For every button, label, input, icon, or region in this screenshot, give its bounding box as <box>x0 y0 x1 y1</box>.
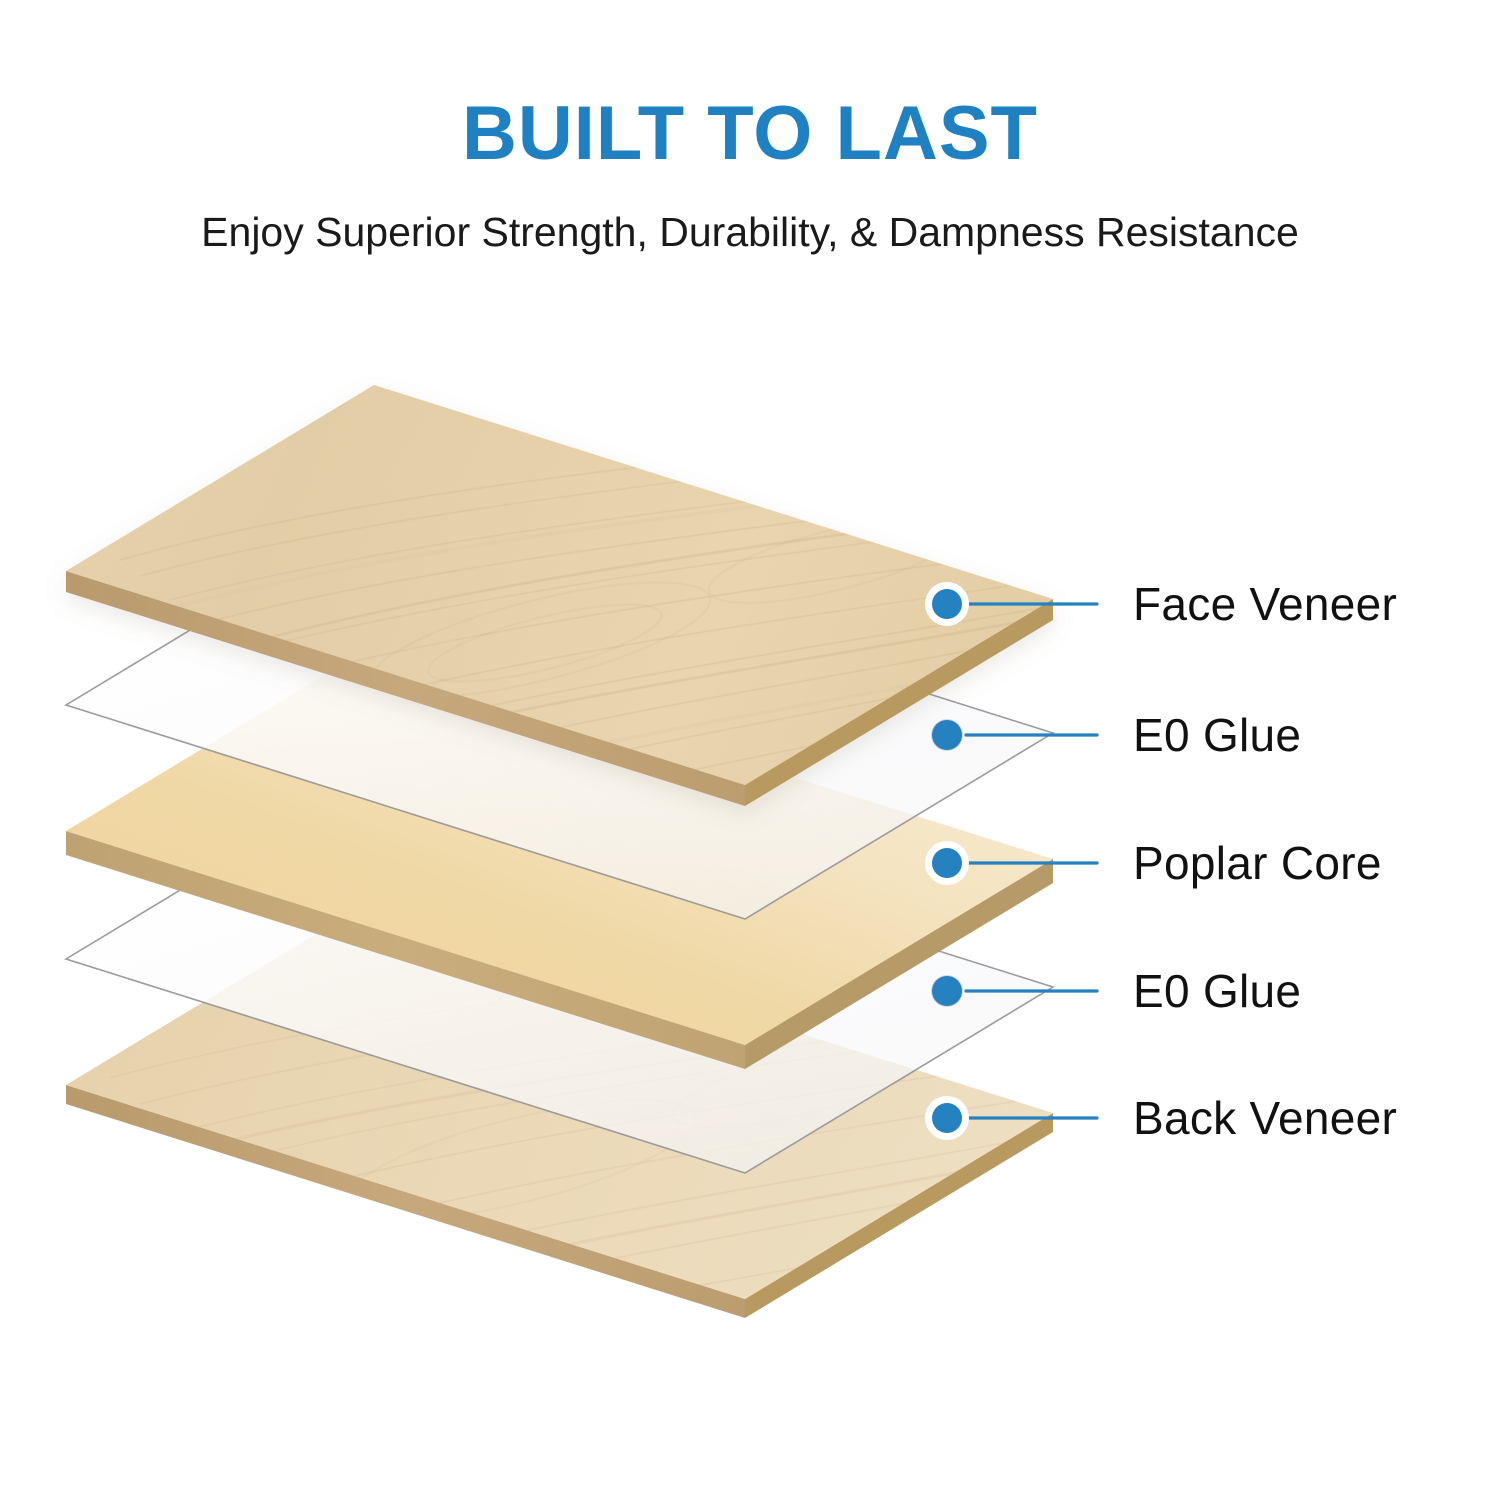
callout-label-glue-bottom: E0 Glue <box>1133 964 1301 1018</box>
callout-label-glue-top: E0 Glue <box>1133 708 1301 762</box>
callout-label-face-veneer: Face Veneer <box>1133 577 1397 631</box>
callout-label-poplar-core: Poplar Core <box>1133 836 1382 890</box>
callout-label-back-veneer: Back Veneer <box>1133 1091 1397 1145</box>
marker-glue-bottom[interactable] <box>931 975 963 1007</box>
marker-glue-top[interactable] <box>931 719 963 751</box>
marker-back-veneer[interactable] <box>925 1096 969 1140</box>
marker-face-veneer[interactable] <box>925 582 969 626</box>
infographic-canvas: BUILT TO LAST Enjoy Superior Strength, D… <box>0 0 1500 1500</box>
marker-poplar-core[interactable] <box>925 841 969 885</box>
